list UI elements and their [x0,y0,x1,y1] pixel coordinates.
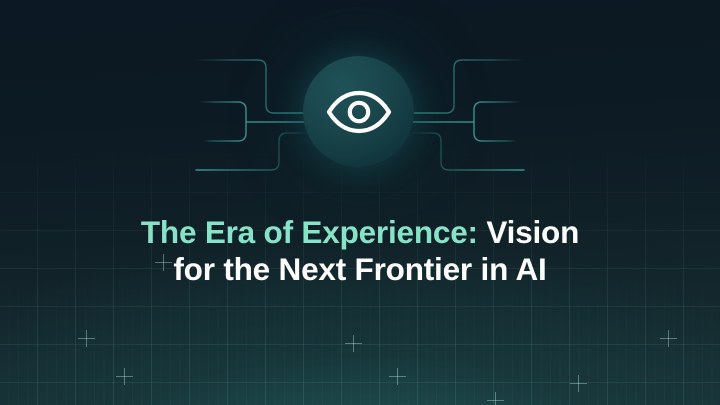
title-accent-text: The Era of Experience: [141,214,478,250]
circuit-trace-right-loop [474,102,520,141]
circuit-trace-left-top [196,60,310,113]
title-line-2: for the Next Frontier in AI [0,251,720,288]
title-white-text: Vision [486,214,579,250]
title-line-1: The Era of Experience: Vision [0,214,720,251]
eye-icon [303,56,414,167]
emblem-circle [303,56,414,167]
page-title: The Era of Experience: Vision for the Ne… [0,214,720,287]
circuit-trace-left-loop [200,102,246,141]
title-slide: The Era of Experience: Vision for the Ne… [0,0,720,405]
circuit-trace-right-bottom [408,133,524,170]
circuit-trace-left-bottom [196,133,312,170]
circuit-trace-right-top [410,60,524,113]
